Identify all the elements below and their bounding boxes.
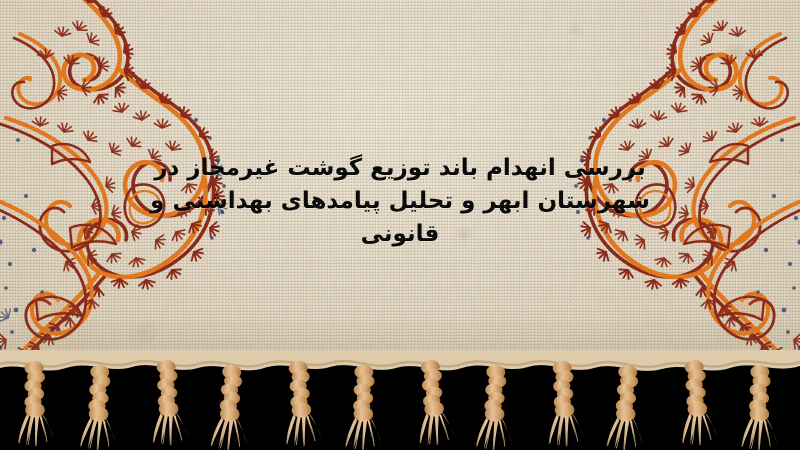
- tassel: [678, 359, 719, 448]
- fabric-hem-edge: [0, 350, 800, 371]
- tassel: [345, 364, 384, 450]
- tassel: [606, 364, 648, 450]
- title-slide: بررسی انهدام باند توزیع گوشت غیرمجاز در …: [0, 0, 800, 450]
- tassel: [18, 361, 54, 448]
- tassel: [282, 360, 323, 449]
- tassel: [414, 359, 456, 448]
- tassel: [546, 360, 585, 448]
- textile-background: [0, 0, 800, 378]
- tassel: [150, 359, 189, 447]
- tassel-row: [18, 359, 780, 450]
- tassel: [476, 364, 517, 450]
- tassel: [210, 364, 252, 450]
- tassel: [80, 364, 121, 450]
- tassel: [741, 364, 780, 450]
- tassel-fringe: [0, 350, 800, 450]
